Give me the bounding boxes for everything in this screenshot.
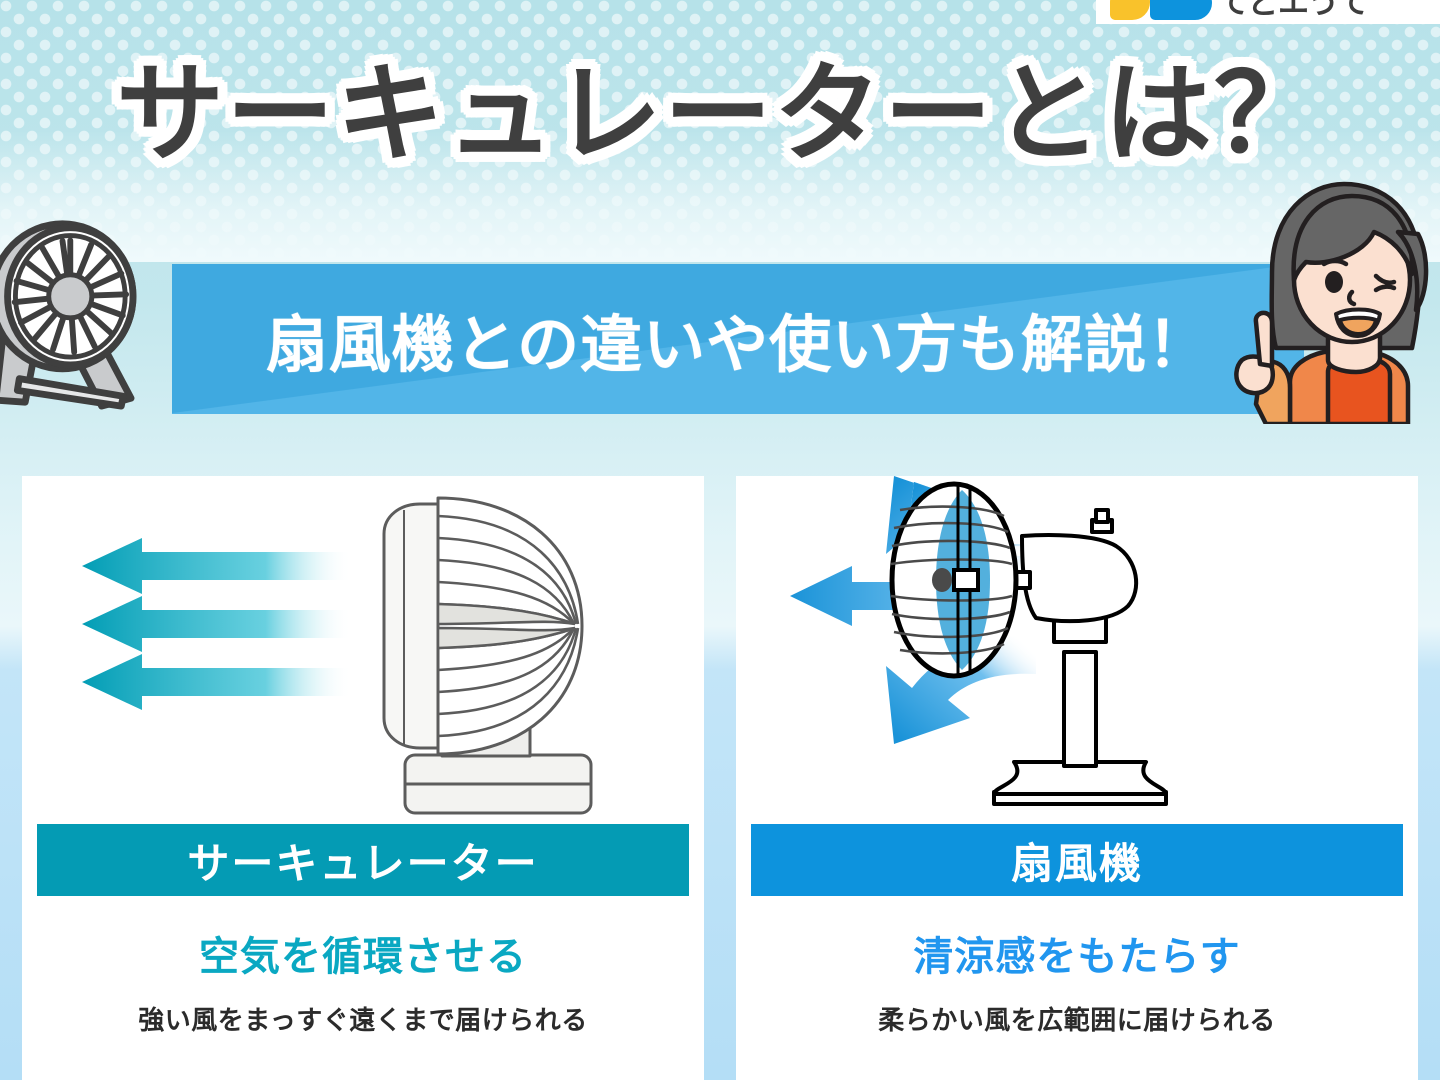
card-circulator: サーキュレーター 空気を循環させる 強い風をまっすぐ遠くまで届けられる: [22, 476, 704, 1080]
page-title: サーキュレーターとは？: [0, 46, 1440, 181]
circulator-illustration: [22, 476, 704, 824]
logo-yellow-shape-icon: [1110, 0, 1150, 20]
airflow-arrow-group: [82, 538, 352, 710]
card-caption-circulator: 強い風をまっすぐ遠くまで届けられる: [138, 1000, 587, 1037]
logo-wordmark: てどエうて: [1218, 0, 1368, 20]
subtitle-banner: 扇風機との違いや使い方も解説！: [172, 264, 1304, 414]
card-electric-fan: 扇風機 清涼感をもたらす 柔らかい風を広範囲に届けられる: [736, 476, 1418, 1080]
card-heading-electric-fan: 清涼感をもたらす: [913, 924, 1240, 982]
card-banner-circulator: サーキュレーター: [37, 824, 689, 896]
card-banner-electric-fan: 扇風機: [751, 824, 1403, 896]
card-heading-circulator: 空気を循環させる: [199, 924, 527, 982]
subtitle-text: 扇風機との違いや使い方も解説！: [172, 264, 1304, 414]
logo-blue-shape-icon: [1150, 0, 1212, 20]
woman-character-illustration: [1232, 176, 1440, 424]
comparison-cards: サーキュレーター 空気を循環させる 強い風をまっすぐ遠くまで届けられる: [0, 476, 1440, 1080]
infographic-poster: てどエうて サーキュレーターとは？ 扇風機との違いや使い方も解説！: [0, 0, 1440, 1080]
card-caption-electric-fan: 柔らかい風を広範囲に届けられる: [878, 1000, 1276, 1037]
brand-logo[interactable]: てどエうて: [1096, 0, 1440, 24]
electric-fan-illustration: [736, 476, 1418, 824]
circulator-front-view-icon: [0, 214, 182, 410]
